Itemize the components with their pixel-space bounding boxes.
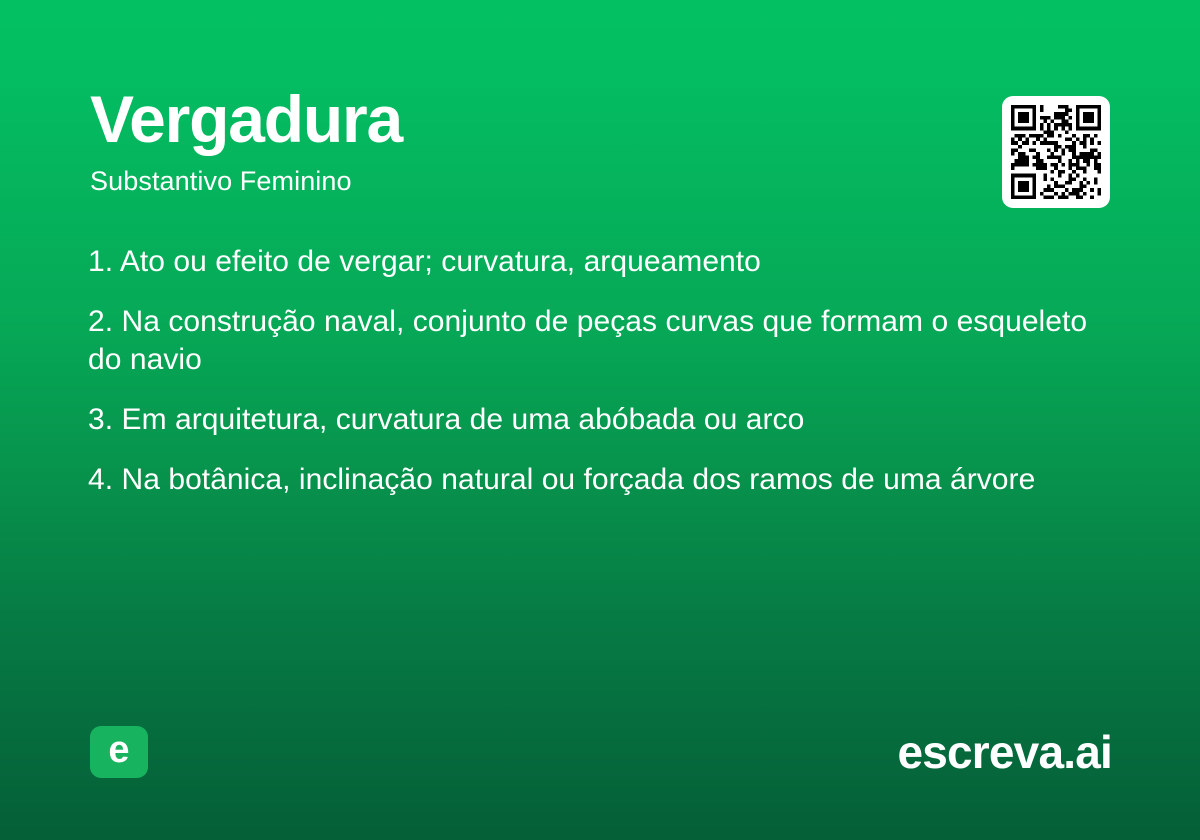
page-title: Vergadura <box>90 86 1110 152</box>
definition-item: 4. Na botânica, inclinação natural ou fo… <box>88 461 1098 499</box>
part-of-speech-label: Substantivo Feminino <box>90 167 1110 197</box>
qr-code-icon <box>1011 105 1101 199</box>
definition-item: 2. Na construção naval, conjunto de peça… <box>88 303 1098 379</box>
brand-name: escreva.ai <box>897 729 1112 775</box>
card-header: Vergadura Substantivo Feminino <box>90 86 1110 197</box>
dictionary-card: Vergadura Substantivo Feminino 1. Ato ou… <box>0 0 1200 840</box>
qr-code-card[interactable] <box>1002 96 1110 208</box>
card-footer: e escreva.ai <box>90 726 1112 778</box>
brand-logo-letter: e <box>108 731 129 769</box>
brand-logo[interactable]: e <box>90 726 148 778</box>
definition-list: 1. Ato ou efeito de vergar; curvatura, a… <box>88 243 1098 499</box>
definition-item: 1. Ato ou efeito de vergar; curvatura, a… <box>88 243 1098 281</box>
definition-item: 3. Em arquitetura, curvatura de uma abób… <box>88 401 1098 439</box>
